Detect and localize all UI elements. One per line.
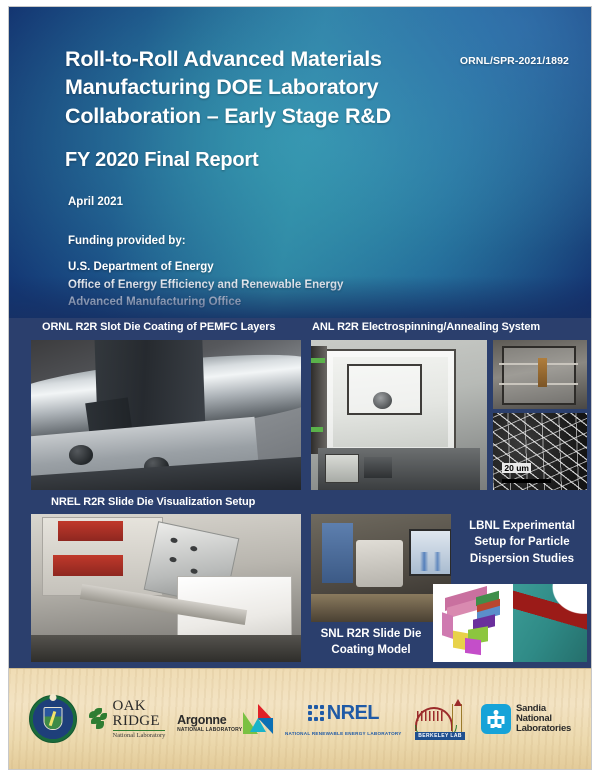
argonne-logo: Argonne NATIONAL LABORATORY bbox=[177, 704, 273, 734]
red-case-shape bbox=[53, 555, 123, 576]
campanile-top-shape bbox=[454, 699, 462, 706]
nrel-logo: NREL NATIONAL RENEWABLE ENERGY LABORATOR… bbox=[285, 702, 402, 736]
mesh-face bbox=[442, 613, 453, 639]
snl-coating-model-figure bbox=[433, 584, 587, 662]
funding-lines: U.S. Department of Energy Office of Ener… bbox=[68, 259, 343, 312]
berkeley-lab-label: BERKELEY LAB bbox=[415, 732, 465, 740]
flow-field-shape bbox=[513, 584, 587, 662]
spectrum-plot bbox=[413, 552, 447, 571]
sem-scale-bar bbox=[502, 479, 551, 483]
campanile-shape bbox=[452, 704, 462, 732]
port-shape bbox=[189, 568, 197, 574]
nrel-figure-caption: NREL R2R Slide Die Visualization Setup bbox=[51, 496, 255, 508]
red-interface-shape bbox=[513, 584, 587, 662]
berkeley-lab-logo: BERKELEY LAB bbox=[413, 699, 469, 739]
funding-line: U.S. Department of Energy bbox=[68, 259, 343, 277]
ornl-figure-caption: ORNL R2R Slot Die Coating of PEMFC Layer… bbox=[42, 321, 275, 333]
monitor-shape bbox=[409, 529, 451, 576]
argonne-label: Argonne bbox=[177, 714, 242, 727]
enclosure-shape bbox=[325, 349, 456, 455]
page-subtitle: FY 2020 Final Report bbox=[65, 149, 425, 172]
doe-seal-logo bbox=[29, 695, 77, 743]
snl-figure-caption: SNL R2R Slide Die Coating Model bbox=[309, 626, 433, 659]
nrel-grid-icon bbox=[308, 705, 325, 722]
sandia-wordmark: Sandia National Laboratories bbox=[516, 704, 571, 734]
doe-seal-icon bbox=[29, 695, 77, 743]
publication-date: April 2021 bbox=[68, 196, 123, 208]
port-shape bbox=[169, 556, 177, 562]
mesh-face bbox=[465, 637, 481, 654]
spool-shape bbox=[373, 392, 392, 409]
dome-bars-shape bbox=[417, 711, 443, 721]
funding-line: Advanced Manufacturing Office bbox=[68, 294, 343, 312]
bench-shape bbox=[311, 594, 451, 622]
page-sheet: Roll-to-Roll Advanced Materials Manufact… bbox=[8, 6, 592, 770]
funding-heading: Funding provided by: bbox=[68, 235, 186, 247]
argonne-wordmark: Argonne NATIONAL LABORATORY bbox=[177, 714, 242, 733]
oak-ridge-line2: RIDGE bbox=[113, 714, 166, 731]
sandia-logo: Sandia National Laboratories bbox=[481, 704, 571, 734]
oak-ridge-logo: OAK RIDGE National Laboratory bbox=[89, 699, 166, 739]
page-title: Roll-to-Roll Advanced Materials Manufact… bbox=[65, 45, 425, 130]
lbnl-experimental-photo bbox=[311, 514, 451, 622]
nrel-slide-die-photo bbox=[31, 514, 301, 662]
berkeley-lab-icon: BERKELEY LAB bbox=[413, 699, 469, 739]
cad-mesh-model bbox=[441, 590, 509, 657]
anl-electrospinning-photo bbox=[311, 340, 487, 490]
bolt-shape bbox=[69, 445, 93, 465]
anl-figure-caption: ANL R2R Electrospinning/Annealing System bbox=[312, 321, 540, 333]
argonne-triangle-icon bbox=[243, 704, 273, 734]
lbnl-caption-line: LBNL Experimental bbox=[457, 518, 587, 534]
anl-sem-micrograph: 20 um bbox=[493, 413, 587, 490]
sun-icon bbox=[49, 694, 56, 701]
anl-inset-photo bbox=[493, 340, 587, 409]
fiber-mat-shape bbox=[538, 358, 546, 387]
logo-row: OAK RIDGE National Laboratory Argonne NA… bbox=[9, 687, 591, 751]
control-box-shape bbox=[364, 457, 392, 478]
doe-shield-icon bbox=[43, 707, 62, 730]
sandia-thunderbird-icon bbox=[481, 704, 511, 734]
port-shape bbox=[189, 545, 197, 551]
green-tape-shape bbox=[311, 427, 323, 432]
oak-leaf-icon bbox=[89, 708, 109, 730]
snl-caption-line: SNL R2R Slide Die bbox=[309, 626, 433, 642]
oak-ridge-sub: National Laboratory bbox=[113, 733, 166, 740]
report-cover-page: Roll-to-Roll Advanced Materials Manufact… bbox=[0, 0, 600, 776]
green-tape-shape bbox=[311, 358, 325, 363]
report-id: ORNL/SPR-2021/1892 bbox=[460, 55, 569, 67]
cover-hero-banner: Roll-to-Roll Advanced Materials Manufact… bbox=[9, 7, 591, 318]
funding-line: Office of Energy Efficiency and Renewabl… bbox=[68, 277, 343, 295]
lbnl-caption-line: Setup for Particle bbox=[457, 534, 587, 550]
sandia-line3: Laboratories bbox=[516, 724, 571, 734]
port-shape bbox=[169, 537, 177, 543]
thunderbird-shape bbox=[487, 710, 504, 728]
lbnl-figure-caption: LBNL Experimental Setup for Particle Dis… bbox=[457, 518, 587, 567]
oak-ridge-wordmark: OAK RIDGE National Laboratory bbox=[113, 699, 166, 739]
nrel-row: NREL bbox=[308, 702, 379, 725]
lbnl-caption-line: Dispersion Studies bbox=[457, 551, 587, 567]
nrel-sub: NATIONAL RENEWABLE ENERGY LABORATORY bbox=[285, 731, 402, 736]
blue-instrument-shape bbox=[322, 523, 353, 583]
snl-caption-line: Coating Model bbox=[309, 642, 433, 658]
figure-mosaic: ORNL R2R Slot Die Coating of PEMFC Layer… bbox=[9, 318, 591, 683]
analyzer-shape bbox=[356, 540, 404, 588]
ornl-slot-die-photo bbox=[31, 340, 301, 490]
bench-shape bbox=[31, 635, 301, 662]
red-case-shape bbox=[58, 521, 123, 540]
sem-scale-label: 20 um bbox=[502, 463, 531, 473]
laboratory-logo-bar: OAK RIDGE National Laboratory Argonne NA… bbox=[9, 668, 591, 769]
nrel-label: NREL bbox=[327, 702, 379, 725]
argonne-sub: NATIONAL LABORATORY bbox=[177, 728, 242, 733]
oak-ridge-line1: OAK bbox=[113, 699, 166, 714]
control-box-shape bbox=[325, 454, 359, 483]
